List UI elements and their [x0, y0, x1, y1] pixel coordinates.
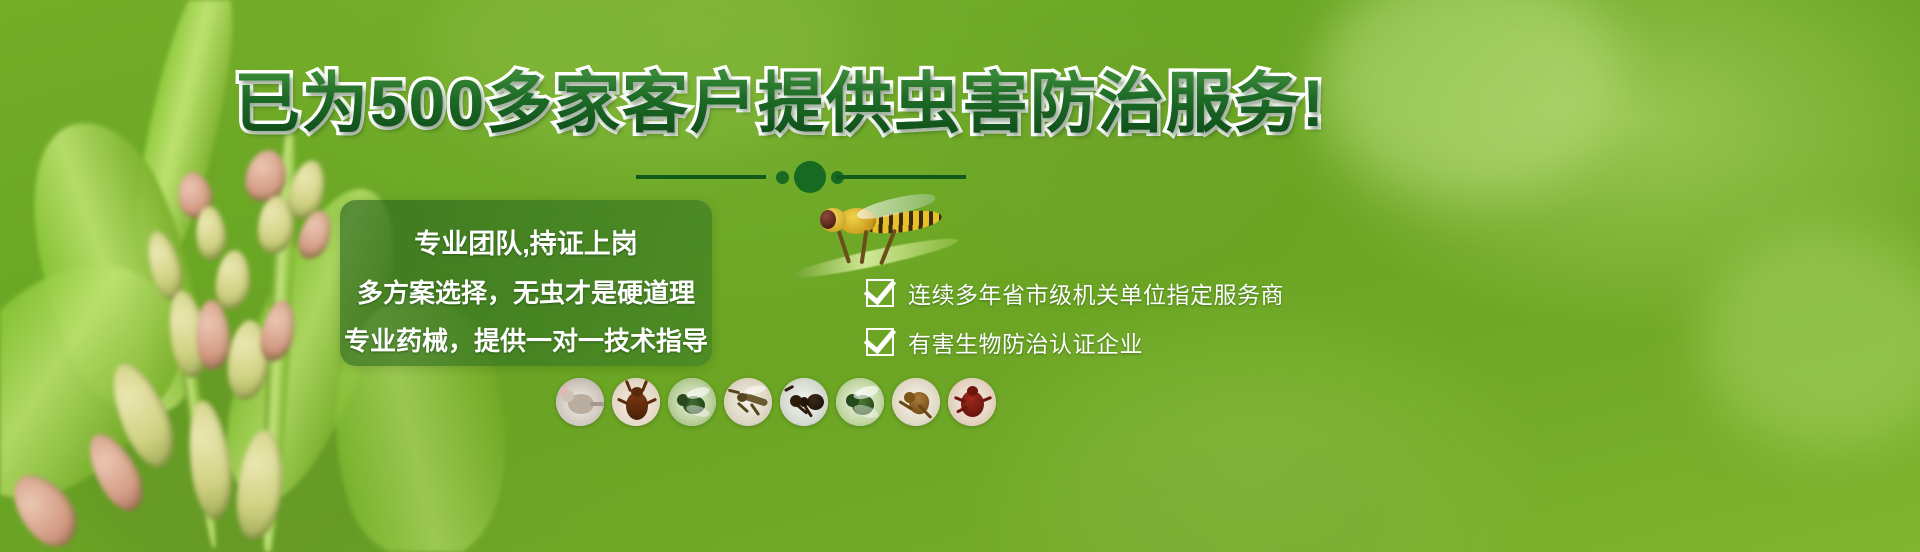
checkbox-checked-icon [866, 328, 894, 356]
selling-points-panel: 专业团队,持证上岗 多方案选择，无虫才是硬道理 专业药械，提供一对一技术指导 [340, 200, 712, 366]
headline-fill-layer: 已为500多家客户提供虫害防治服务! [0, 70, 1560, 136]
mouse-icon[interactable] [556, 378, 604, 426]
divider-dot-large [794, 161, 826, 193]
panel-line-2: 多方案选择，无虫才是硬道理 [340, 273, 712, 310]
bokeh-blob [1080, 430, 1420, 552]
bullet-item-1: 连续多年省市级机关单位指定服务商 [866, 276, 1284, 310]
mosquito-icon[interactable] [724, 378, 772, 426]
divider-dot-small-left [776, 171, 789, 184]
divider-line-right [836, 175, 966, 179]
flea-icon[interactable] [892, 378, 940, 426]
fly-eye [820, 210, 836, 229]
checkbox-checked-icon [866, 279, 894, 307]
bedbug-icon[interactable] [948, 378, 996, 426]
cockroach-icon[interactable] [612, 378, 660, 426]
ant-icon[interactable] [780, 378, 828, 426]
bullet-label: 有害生物防治认证企业 [908, 325, 1143, 359]
panel-line-1: 专业团队,持证上岗 [340, 222, 712, 261]
bullet-label: 连续多年省市级机关单位指定服务商 [908, 276, 1284, 310]
bokeh-blob [1700, 230, 1920, 450]
divider-line-left [636, 175, 766, 179]
pest-types-row [556, 378, 996, 426]
pest-control-promo-banner: 已为500多家客户提供虫害防治服务! 已为500多家客户提供虫害防治服务! 专业… [0, 0, 1920, 552]
page-title: 已为500多家客户提供虫害防治服务! 已为500多家客户提供虫害防治服务! [0, 70, 1560, 136]
panel-line-3: 专业药械，提供一对一技术指导 [340, 321, 712, 358]
bullet-item-2: 有害生物防治认证企业 [866, 325, 1143, 359]
decorative-divider [636, 160, 966, 194]
housefly-icon[interactable] [836, 378, 884, 426]
fly-icon[interactable] [668, 378, 716, 426]
